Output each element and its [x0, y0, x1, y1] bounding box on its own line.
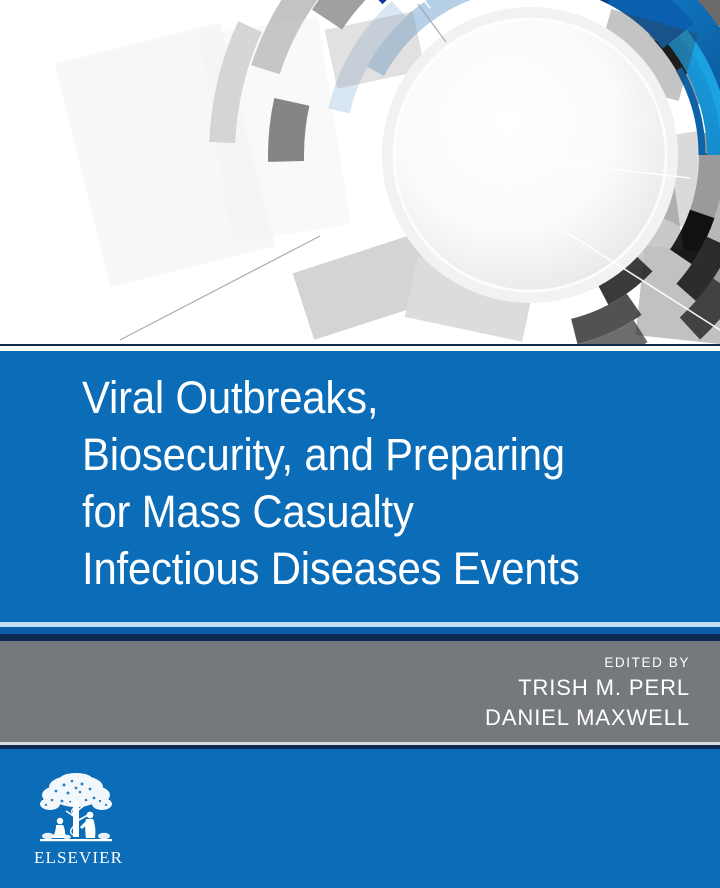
book-cover: Viral Outbreaks, Biosecurity, and Prepar…	[0, 0, 720, 888]
editor-name-2: DANIEL MAXWELL	[485, 703, 690, 733]
separator-navy	[0, 634, 720, 641]
abstract-tech-circles-graphic	[0, 0, 720, 345]
title-line-3: for Mass Casualty	[82, 483, 659, 540]
separator-blue	[0, 627, 720, 634]
edited-by-label: EDITED BY	[485, 653, 690, 673]
title-line-4: Infectious Diseases Events	[82, 540, 659, 597]
artwork-bottom-rule	[0, 344, 720, 346]
elsevier-logo: ELSEVIER	[34, 771, 118, 871]
title-line-1: Viral Outbreaks,	[82, 369, 659, 426]
editors-band: EDITED BY TRISH M. PERL DANIEL MAXWELL	[0, 641, 720, 742]
editor-name-1: TRISH M. PERL	[485, 673, 690, 703]
elsevier-tree-icon	[34, 771, 118, 847]
page-title: Viral Outbreaks, Biosecurity, and Prepar…	[82, 369, 659, 597]
title-band: Viral Outbreaks, Biosecurity, and Prepar…	[0, 351, 720, 622]
publisher-band: ELSEVIER	[0, 749, 720, 888]
white-dot-marker	[357, 149, 366, 158]
publisher-wordmark: ELSEVIER	[34, 848, 118, 868]
editors-block: EDITED BY TRISH M. PERL DANIEL MAXWELL	[485, 653, 690, 733]
cover-artwork	[0, 0, 720, 345]
title-line-2: Biosecurity, and Preparing	[82, 426, 659, 483]
